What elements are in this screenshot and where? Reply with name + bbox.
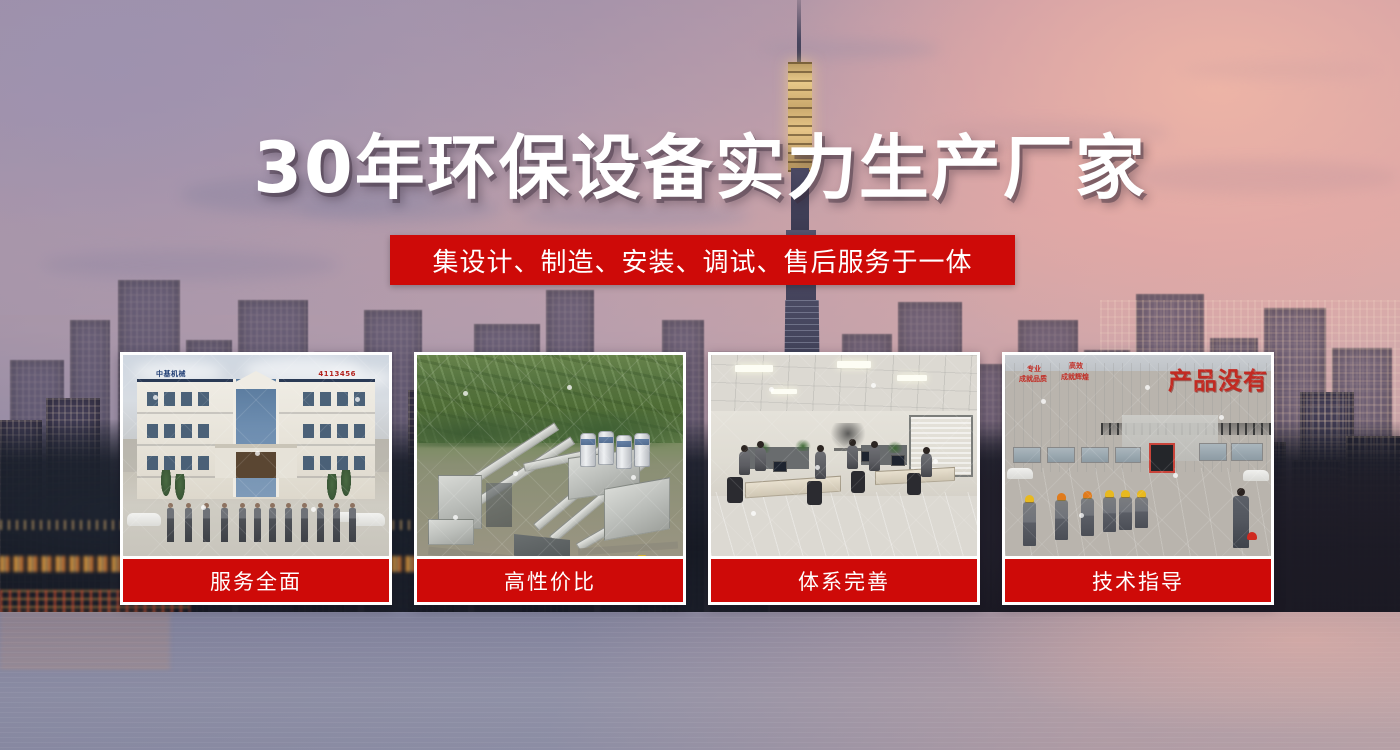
banner-stage: 30年环保设备实力生产厂家 集设计、制造、安装、调试、售后服务于一体: [0, 0, 1400, 750]
subtitle-banner: 集设计、制造、安装、调试、售后服务于一体: [390, 235, 1015, 285]
tower-spire: [797, 0, 801, 70]
feature-card-system[interactable]: 体系完善: [708, 352, 980, 605]
water-sunset-glow: [756, 612, 1400, 750]
feature-card-training[interactable]: 产品没有 专业 成就品质 高效 成就辉煌: [1002, 352, 1274, 605]
card-photo-office-interior: [711, 355, 977, 556]
page-title: 30年环保设备实力生产厂家: [0, 133, 1400, 203]
card-label-system: 体系完善: [711, 556, 977, 602]
feature-card-list: 中基机械 4113456: [120, 352, 1280, 605]
building-sign-company: 中基机械: [156, 369, 186, 379]
factory-wall-slogan-small-1: 专业: [1027, 365, 1041, 374]
card-label-training: 技术指导: [1005, 556, 1271, 602]
factory-wall-slogan-small-4: 成就辉煌: [1061, 373, 1089, 382]
card-photo-office-building: 中基机械 4113456: [123, 355, 389, 556]
card-photo-plant-aerial: [417, 355, 683, 556]
feature-card-value[interactable]: 高性价比: [414, 352, 686, 605]
water-light-reflection: [0, 612, 170, 672]
building-sign-phone: 4113456: [318, 370, 356, 378]
card-label-value: 高性价比: [417, 556, 683, 602]
feature-card-service[interactable]: 中基机械 4113456: [120, 352, 392, 605]
card-label-service: 服务全面: [123, 556, 389, 602]
subtitle-text: 集设计、制造、安装、调试、售后服务于一体: [432, 242, 972, 279]
card-photo-workers: 产品没有 专业 成就品质 高效 成就辉煌: [1005, 355, 1271, 556]
factory-wall-slogan-large: 产品没有: [1168, 361, 1268, 396]
factory-wall-slogan-small-3: 高效: [1069, 362, 1083, 371]
factory-wall-slogan-small-2: 成就品质: [1019, 375, 1047, 384]
building-sign: 中基机械 4113456: [156, 369, 356, 379]
